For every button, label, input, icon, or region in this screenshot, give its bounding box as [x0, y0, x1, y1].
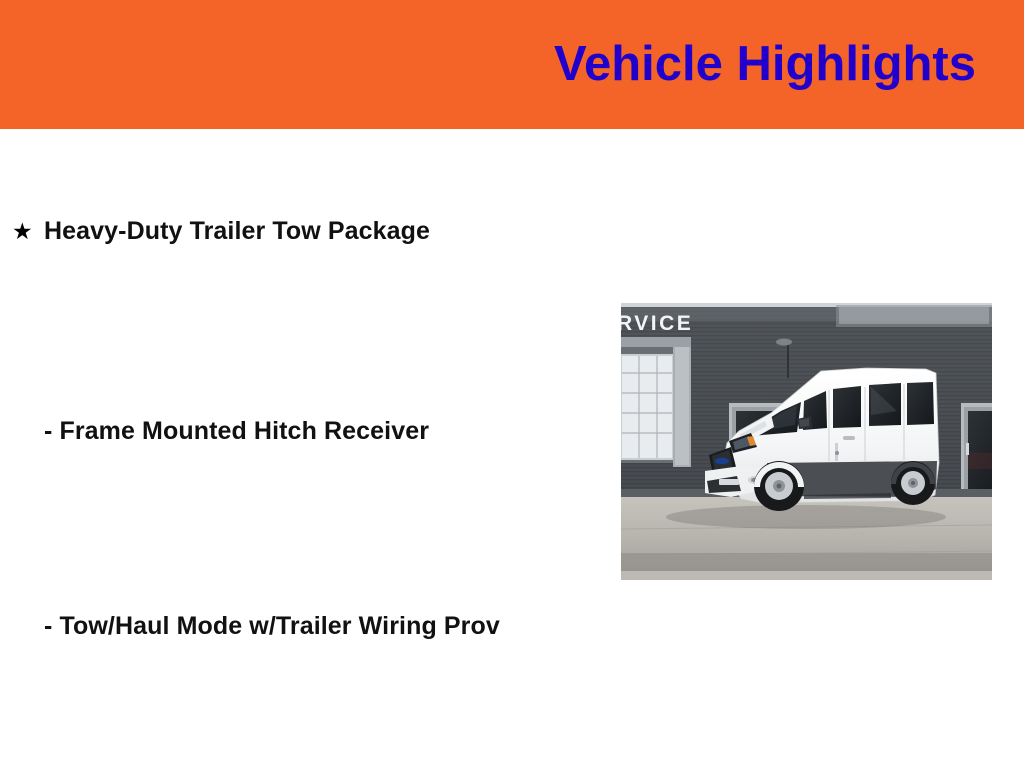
- list-item: - Frame Mounted Hitch Receiver: [44, 416, 604, 447]
- page-title: Vehicle Highlights: [554, 40, 976, 89]
- bullet-list: ★ Heavy-Duty Trailer Tow Package - Frame…: [0, 129, 600, 768]
- bullet-text: Heavy-Duty Trailer Tow Package: [44, 216, 430, 247]
- slide-canvas: Vehicle Highlights ★ Heavy-Duty Trailer …: [0, 0, 1024, 768]
- slide-header-band: Vehicle Highlights: [0, 0, 1024, 129]
- list-item: - Tow/Haul Mode w/Trailer Wiring Prov: [44, 611, 604, 642]
- bullet-text: - Frame Mounted Hitch Receiver: [44, 416, 429, 447]
- star-bullet-icon: ★: [12, 216, 44, 246]
- vehicle-photo: RVICE: [621, 303, 992, 580]
- svg-text:RVICE: RVICE: [621, 312, 693, 335]
- list-item: ★ Heavy-Duty Trailer Tow Package: [12, 216, 572, 247]
- bullet-text: - Tow/Haul Mode w/Trailer Wiring Prov: [44, 611, 500, 642]
